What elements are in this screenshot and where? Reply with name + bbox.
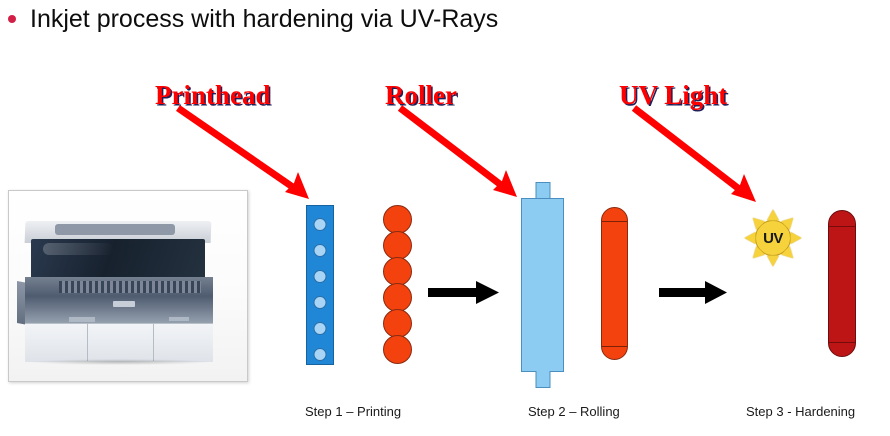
printer-drawer-seam-left [87,323,88,361]
printhead-nozzle [314,322,327,335]
uv-sun-label: UV [763,231,783,246]
printhead-nozzle [314,296,327,309]
ink-droplet [383,205,412,234]
uv-sun-ray [767,210,779,221]
printer-rim-opening [55,224,175,235]
caption-step-2: Step 2 – Rolling [528,404,620,420]
printer-base-drawers [25,323,213,362]
ink-droplet [383,283,412,312]
flow-arrow-1 [428,281,499,304]
ink-droplet [383,257,412,286]
callout-label-uv-light: UV Light [619,80,727,110]
printer-side-label [169,317,189,321]
arrow-to-roller [400,108,517,197]
caption-step-3: Step 3 - Hardening [746,404,855,420]
uv-sun-ray [767,256,779,267]
ink-droplet [383,231,412,260]
printer-vent-grille [59,281,201,293]
printer-photo-image [9,191,247,381]
printer-model-label [69,317,95,322]
rolled-material-seam-bottom [602,346,627,347]
printer-window-gloss [43,243,113,255]
bullet-text: Inkjet process with hardening via UV-Ray… [30,4,498,34]
roller-axle-bottom [535,371,550,388]
rolled-material-shape [601,207,628,360]
printer-drawer-seam-right [153,323,154,361]
printer-badge [113,301,135,307]
rolled-material-seam-top [602,221,627,222]
printhead-nozzle [314,270,327,283]
hardened-material-shape [828,210,856,357]
callout-label-printhead: Printhead [155,80,271,110]
printer-shadow [29,359,211,365]
uv-sun-ray [745,232,756,244]
uv-sun-icon: UV [742,207,804,269]
printhead-nozzle [314,348,327,361]
roller-axle-top [535,182,550,199]
ink-droplet [383,309,412,338]
ink-droplet-column [383,205,413,363]
roller-shape [521,198,564,372]
printhead-nozzle [314,218,327,231]
roller-body [521,198,564,372]
uv-sun-ray [791,232,802,244]
callout-label-roller: Roller [385,80,457,110]
bullet-line: Inkjet process with hardening via UV-Ray… [8,2,708,36]
caption-step-1: Step 1 – Printing [305,404,401,420]
ink-droplet [383,335,412,364]
printhead-shape [306,205,334,365]
hardened-material-seam-bottom [829,342,855,343]
printhead-nozzle [314,244,327,257]
bullet-marker-icon [8,15,16,23]
flow-arrow-2 [659,281,727,304]
hardened-material-seam-top [829,226,855,227]
arrow-to-printhead [178,108,309,199]
printer-photo [8,190,248,382]
arrow-to-uv-light [634,108,756,202]
